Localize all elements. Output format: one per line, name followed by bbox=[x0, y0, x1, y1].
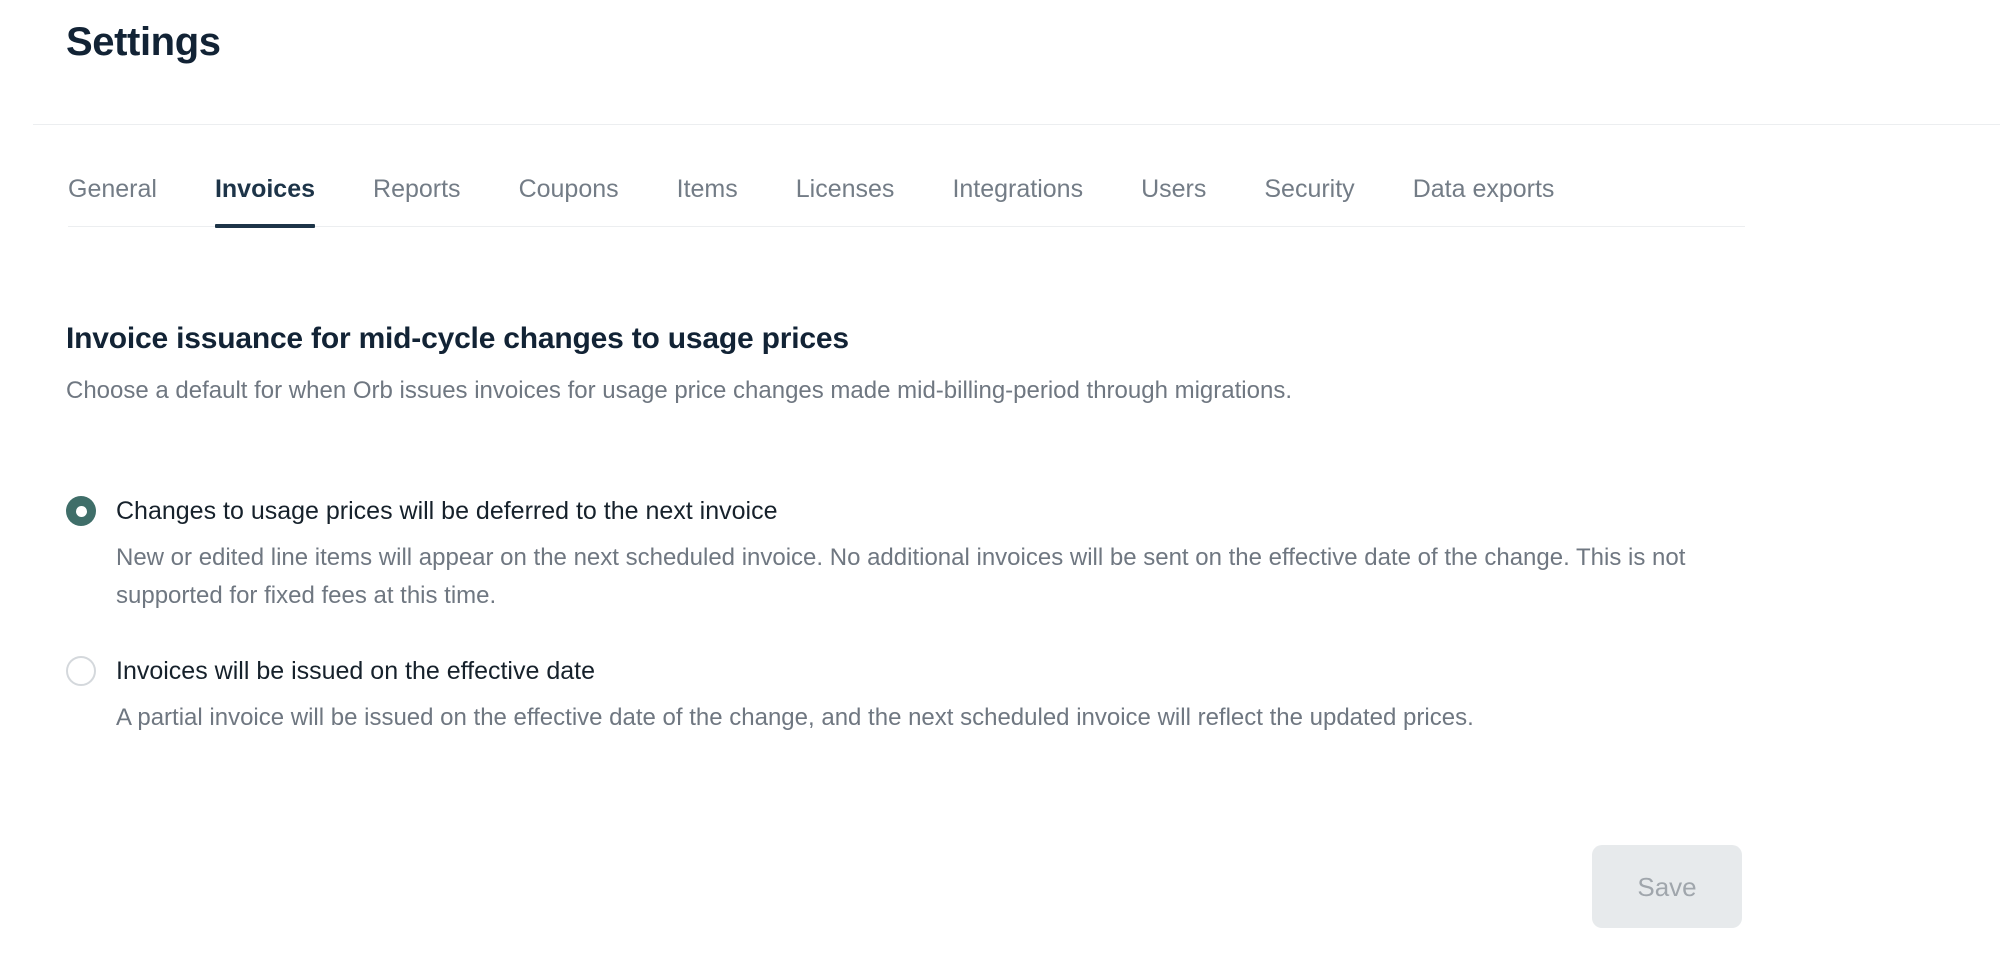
tab-security[interactable]: Security bbox=[1264, 174, 1354, 226]
tab-licenses[interactable]: Licenses bbox=[796, 174, 895, 226]
tab-invoices[interactable]: Invoices bbox=[215, 174, 315, 226]
page-title: Settings bbox=[66, 18, 221, 66]
tab-general[interactable]: General bbox=[68, 174, 157, 226]
settings-page: Settings General Invoices Reports Coupon… bbox=[0, 0, 2000, 978]
radio-option-deferred-description: New or edited line items will appear on … bbox=[116, 539, 1766, 615]
save-button[interactable]: Save bbox=[1592, 845, 1742, 928]
section-heading: Invoice issuance for mid-cycle changes t… bbox=[66, 320, 1766, 358]
tab-coupons[interactable]: Coupons bbox=[519, 174, 619, 226]
radio-option-deferred-label: Changes to usage prices will be deferred… bbox=[116, 495, 778, 527]
tab-data-exports[interactable]: Data exports bbox=[1413, 174, 1555, 226]
radio-option-deferred[interactable]: Changes to usage prices will be deferred… bbox=[66, 495, 1766, 615]
invoice-issuance-section: Invoice issuance for mid-cycle changes t… bbox=[66, 320, 1766, 410]
tab-integrations[interactable]: Integrations bbox=[952, 174, 1083, 226]
settings-tabs: General Invoices Reports Coupons Items L… bbox=[68, 174, 1745, 227]
radio-option-deferred-row[interactable]: Changes to usage prices will be deferred… bbox=[66, 495, 1766, 527]
radio-unselected-icon[interactable] bbox=[66, 656, 96, 686]
section-description: Choose a default for when Orb issues inv… bbox=[66, 372, 1676, 410]
header-divider bbox=[33, 124, 2000, 125]
tab-items[interactable]: Items bbox=[677, 174, 738, 226]
radio-option-effective-date-label: Invoices will be issued on the effective… bbox=[116, 655, 595, 687]
radio-option-effective-date-description: A partial invoice will be issued on the … bbox=[116, 699, 1766, 737]
radio-option-effective-date[interactable]: Invoices will be issued on the effective… bbox=[66, 655, 1766, 737]
invoice-issuance-radio-group: Changes to usage prices will be deferred… bbox=[66, 495, 1766, 737]
radio-selected-icon[interactable] bbox=[66, 496, 96, 526]
radio-option-effective-date-row[interactable]: Invoices will be issued on the effective… bbox=[66, 655, 1766, 687]
section-footer: Save bbox=[66, 845, 1742, 928]
tab-reports[interactable]: Reports bbox=[373, 174, 461, 226]
tab-users[interactable]: Users bbox=[1141, 174, 1206, 226]
